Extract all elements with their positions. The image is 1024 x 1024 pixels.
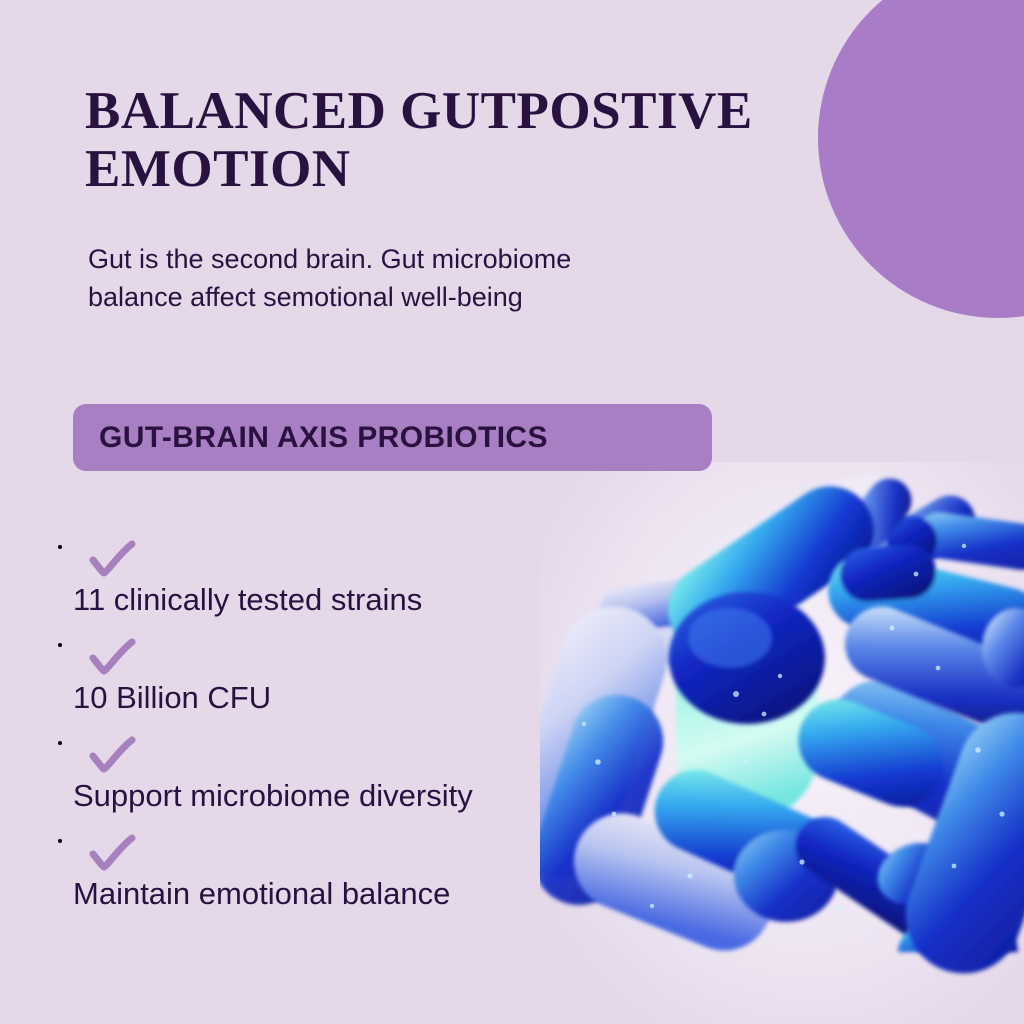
list-item-label: 11 clinically tested strains (73, 583, 422, 617)
list-item-label: Maintain emotional balance (73, 877, 450, 911)
page-title-line-1: BALANCED GUTPOSTIVE (85, 82, 753, 140)
list-item: Support microbiome diversity (73, 734, 593, 832)
check-icon (89, 736, 137, 774)
page-title: BALANCED GUTPOSTIVE EMOTION (85, 82, 795, 199)
decorative-circle (818, 0, 1024, 318)
list-item: 10 Billion CFU (73, 636, 593, 734)
list-item-label: 10 Billion CFU (73, 681, 271, 715)
highlight-banner: GUT-BRAIN AXIS PROBIOTICS (73, 404, 712, 471)
list-item: 11 clinically tested strains (73, 538, 593, 636)
list-item-label: Support microbiome diversity (73, 779, 473, 813)
page-subtitle: Gut is the second brain. Gut microbiome … (88, 240, 788, 317)
check-icon (89, 834, 137, 872)
page-subtitle-line-1: Gut is the second brain. Gut microbiome (88, 244, 571, 274)
bacteria-illustration (540, 462, 1024, 1024)
highlight-banner-label: GUT-BRAIN AXIS PROBIOTICS (73, 421, 548, 455)
check-icon (89, 638, 137, 676)
check-icon (89, 540, 137, 578)
list-item: Maintain emotional balance (73, 832, 593, 930)
poster-canvas: BALANCED GUTPOSTIVE EMOTION Gut is the s… (0, 0, 1024, 1024)
page-title-line-2: EMOTION (85, 140, 351, 198)
page-subtitle-line-2: balance affect semotional well-being (88, 282, 523, 312)
feature-list: 11 clinically tested strains 10 Billion … (73, 538, 593, 930)
